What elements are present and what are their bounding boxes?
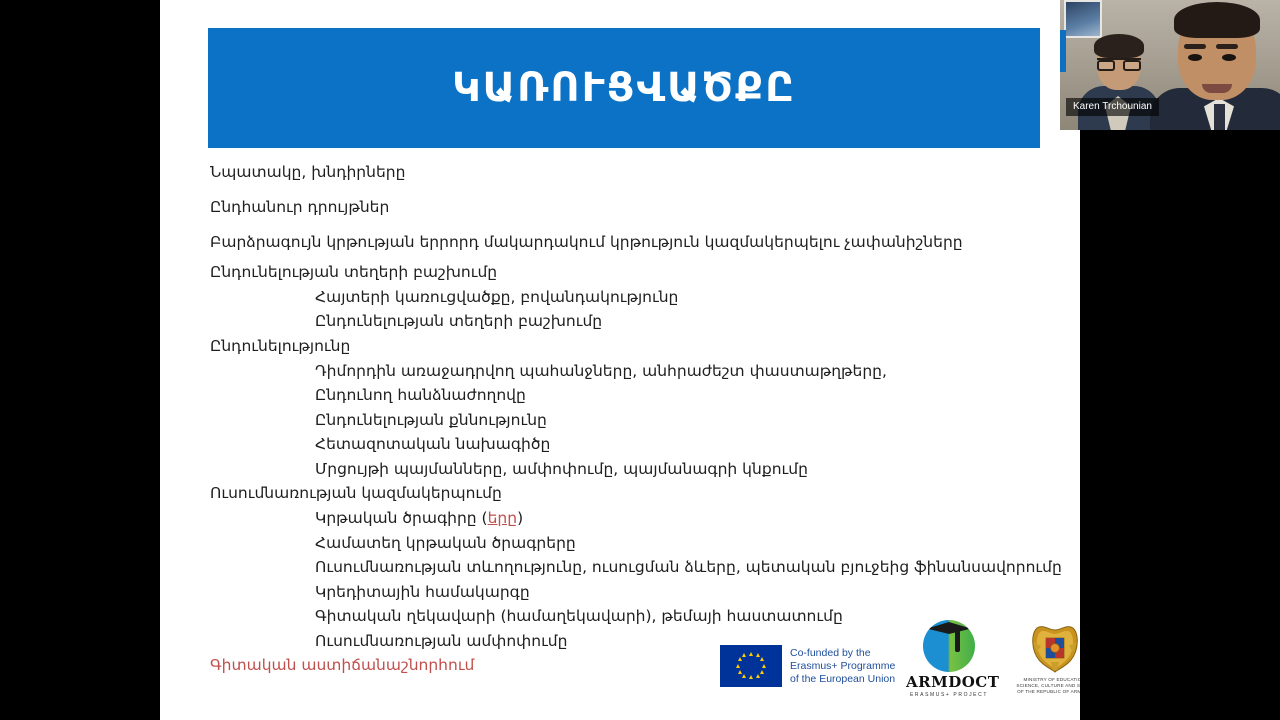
eu-erasmus-logo: Co-funded by the Erasmus+ Programme of t… [720, 645, 895, 687]
outline-subitem: Կրեդիտային համակարգը [210, 580, 1060, 605]
outline-item: Ընդունելությունը [210, 334, 1060, 359]
armdoct-logo: ARMDOCT ERASMUS+ PROJECT [906, 620, 992, 698]
foreground-person-eye-right [1222, 54, 1236, 61]
foreground-person-brow-left [1184, 44, 1206, 49]
outline-item: Նպատակը, խնդիրները [210, 155, 1060, 190]
eu-logo-caption: Co-funded by the Erasmus+ Programme of t… [790, 647, 895, 686]
subitem-text-before: Կրթական ծրագիրը ( [315, 511, 488, 527]
armdoct-globe-icon [923, 620, 975, 672]
background-person-hair [1094, 34, 1144, 58]
sponsor-logos: Co-funded by the Erasmus+ Programme of t… [720, 620, 1080, 706]
outline-item: Ուսումնառության կազմակերպումը [210, 482, 1060, 507]
participant-name-label: Karen Trchounian [1066, 98, 1159, 116]
wall-poster [1064, 0, 1102, 38]
outline-subitem-with-highlight: Կրթական ծրագիրը (երը) [210, 507, 1060, 532]
outline-subitem: Մրցույթի պայմանները, ամփոփումը, պայմանագ… [210, 457, 1060, 482]
outline-subitem: Ընդունելության տեղերի բաշխումը [210, 310, 1060, 335]
slide-title-banner: ԿԱՌՈՒՑՎԱԾՔԸ [208, 28, 1040, 148]
outline-item: Ընդունելության տեղերի բաշխումը [210, 260, 1060, 285]
outline-subitem: Ընդունող հանձնաժողովը [210, 384, 1060, 409]
screen-root: ԿԱՌՈՒՑՎԱԾՔԸ Նպատակը, խնդիրները Ընդհանուր… [0, 0, 1280, 720]
eu-caption-line-3: of the European Union [790, 673, 895, 686]
outline-item: Բարձրագույն կրթության երրորդ մակարդակում… [210, 225, 1060, 260]
eu-flag-icon [720, 645, 782, 687]
outline-item: Ընդհանուր դրույթներ [210, 190, 1060, 225]
outline-subitem: Ուսումնառության տևողությունը, ուսուցման … [210, 556, 1060, 581]
subitem-text-after: ) [517, 511, 523, 527]
outline-subitem: Համատեղ կրթական ծրագրերը [210, 531, 1060, 556]
ministry-logo: Ministry of Education, Science, Culture … [1010, 620, 1080, 695]
foreground-person-hair [1174, 2, 1260, 38]
eu-caption-line-1: Co-funded by the [790, 647, 895, 660]
video-participant-tile[interactable]: Karen Trchounian [1060, 0, 1280, 130]
subitem-highlight: երը [488, 511, 517, 527]
armdoct-subtitle: ERASMUS+ PROJECT [906, 692, 992, 698]
outline-subitem: Հետազոտական նախագիծը [210, 433, 1060, 458]
page-title: ԿԱՌՈՒՑՎԱԾՔԸ [452, 65, 796, 111]
slide-body: Նպատակը, խնդիրները Ընդհանուր դրույթներ Բ… [210, 155, 1060, 679]
foreground-person-brow-right [1216, 44, 1238, 49]
cap-tassel-icon [955, 630, 960, 652]
presentation-slide: ԿԱՌՈՒՑՎԱԾՔԸ Նպատակը, խնդիրները Ընդհանուր… [160, 0, 1080, 720]
outline-subitem: Հայտերի կառուցվածքը, բովանդակությունը [210, 285, 1060, 310]
foreground-person-tie [1214, 104, 1225, 130]
foreground-person-mouth [1202, 84, 1232, 93]
armdoct-wordmark: ARMDOCT [906, 673, 992, 691]
outline-subitem: Ընդունելության քննությունը [210, 408, 1060, 433]
outline-subitem: Դիմորդին առաջադրվող պահանջները, անհրաժեշ… [210, 359, 1060, 384]
ministry-caption-line-3: of the Republic of Armenia [1010, 689, 1080, 695]
wall-accent-stripe [1060, 30, 1066, 72]
graduation-cap-icon [927, 622, 971, 634]
eu-caption-line-2: Erasmus+ Programme [790, 660, 895, 673]
glasses-icon [1097, 58, 1141, 69]
armenia-coat-of-arms-icon [1027, 620, 1080, 674]
foreground-person-eye-left [1188, 54, 1202, 61]
ministry-caption: Ministry of Education, Science, Culture … [1010, 677, 1080, 695]
participant-foreground-person [1156, 0, 1280, 130]
